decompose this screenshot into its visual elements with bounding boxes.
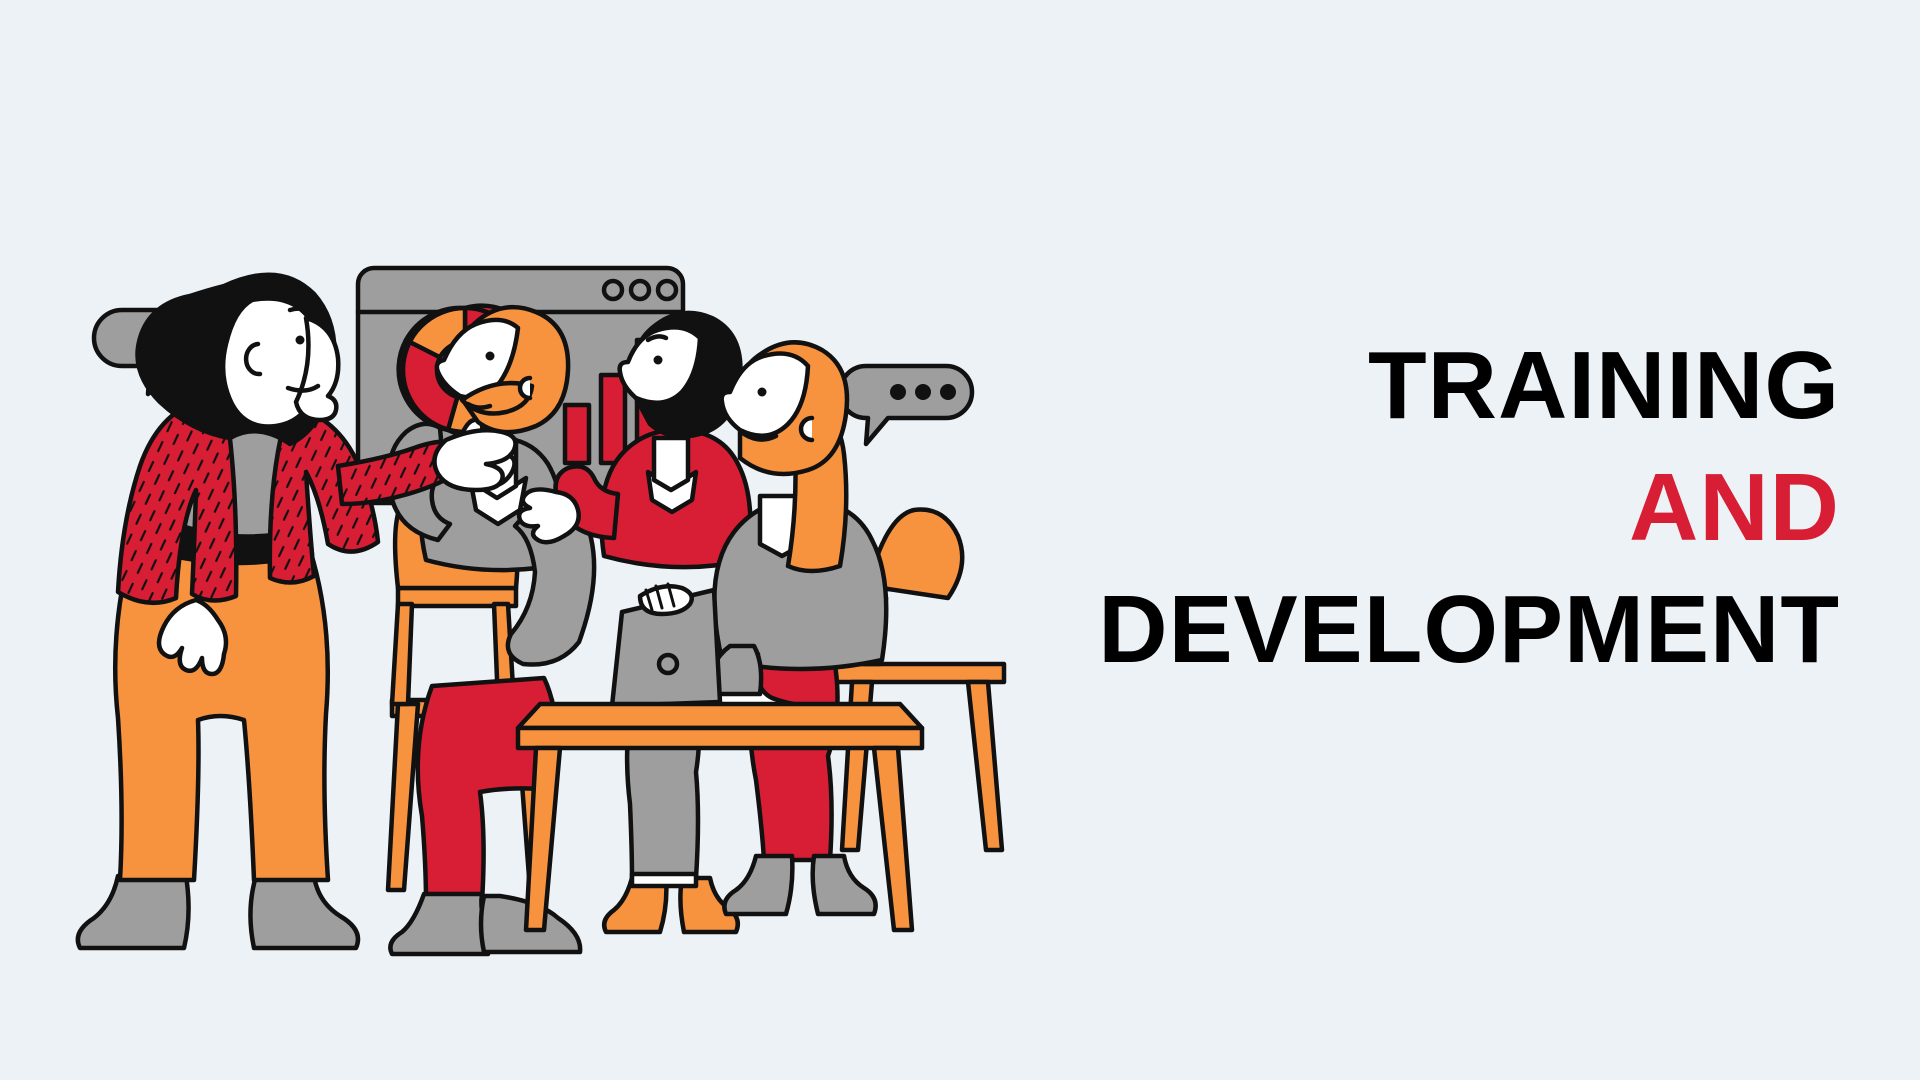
team-training-meeting-illustration [0,0,1080,1080]
headline-line-1: TRAINING [1080,338,1840,434]
speech-bubble-right [840,366,972,444]
training-banner: TRAINING AND DEVELOPMENT [0,0,1920,1080]
headline-line-3: DEVELOPMENT [1080,582,1840,678]
seated-woman-orange-hair [706,342,891,914]
headline-block: TRAINING AND DEVELOPMENT [1080,338,1840,704]
headline-line-2: AND [1080,460,1840,556]
